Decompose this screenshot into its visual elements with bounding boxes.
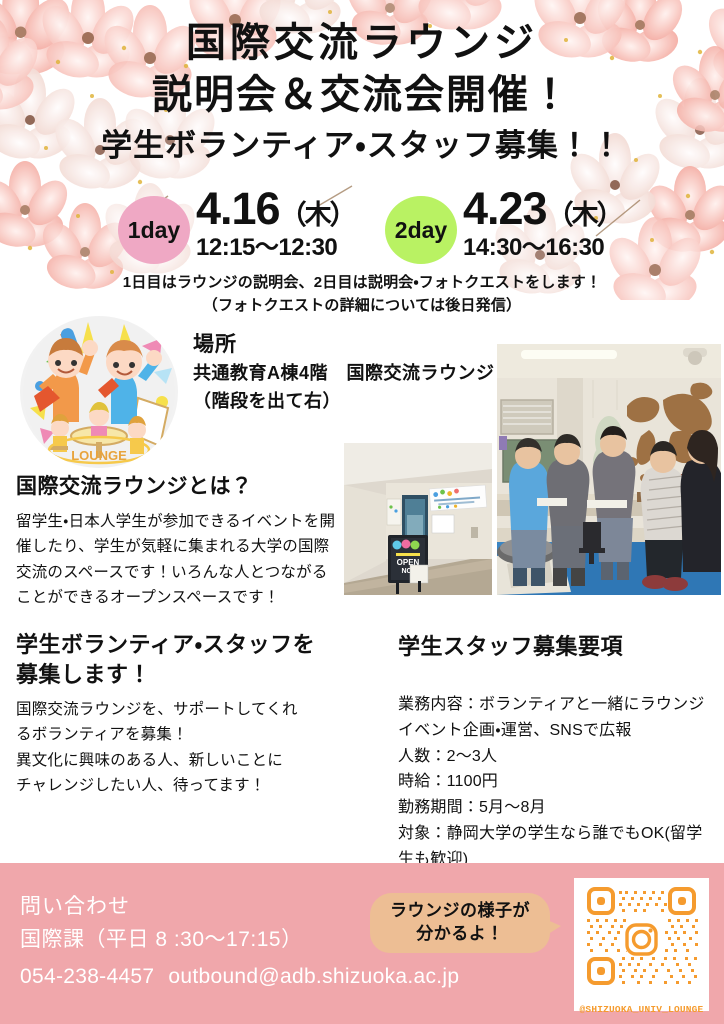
contact-phone-email: 054-238-4457outbound@adb.shizuoka.ac.jp: [20, 965, 459, 989]
place-block: 場所 共通教育A棟4階 国際交流ラウンジ （階段を出て右）: [193, 328, 495, 414]
day-2-date-row: 4.23（木）: [463, 188, 622, 231]
recruit-body-line-3: 異文化に興味のある人、新しいことに: [16, 748, 381, 773]
place-line-1: 共通教育A棟4階 国際交流ラウンジ: [193, 360, 495, 386]
poster-header: 国際交流ラウンジ 説明会＆交流会開催！ 学生ボランティア・スタッフ募集！！: [0, 18, 724, 166]
note-line-2: （フォトクエストの詳細については後日発信）: [0, 295, 724, 318]
event-day-1: 1day 4.16（木） 12:15〜12:30: [118, 188, 355, 264]
day-2-time: 14:30〜16:30: [463, 234, 622, 262]
contact-email[interactable]: outbound@adb.shizuoka.ac.jp: [168, 965, 459, 988]
title-line-1: 国際交流ラウンジ: [0, 18, 724, 68]
title-line-2: 説明会＆交流会開催！: [0, 70, 724, 120]
day-badge-2: 2day: [385, 196, 457, 264]
terms-line-2: イベント企画・運営、SNSで広報: [398, 718, 718, 744]
place-line-2: （階段を出て右）: [193, 388, 495, 414]
event-day-2: 2day 4.23（木） 14:30〜16:30: [385, 188, 622, 264]
instagram-qr-code-icon[interactable]: [579, 883, 704, 998]
day-1-details: 4.16（木） 12:15〜12:30: [196, 188, 355, 261]
photo-lounge-entrance-svg: OPEN NOW: [344, 443, 492, 595]
recruit-body-line-2: るボランティアを募集！: [16, 722, 381, 747]
place-label: 場所: [193, 328, 495, 358]
terms-section: 学生スタッフ募集要項 業務内容：ボランティアと一緒にラウンジ イベント企画・運営…: [398, 632, 718, 873]
instagram-qr-card[interactable]: @SHIZUOKA_UNIV_LOUNGE: [574, 878, 709, 1011]
about-body: 留学生・日本人学生が参加できるイベントを開催したり、学生が気軽に集まれる大学の国…: [16, 509, 336, 609]
day-2-date: 4.23: [463, 183, 547, 234]
terms-line-1: 業務内容：ボランティアと一緒にラウンジ: [398, 692, 718, 718]
terms-line-6: 対象：静岡大学の学生なら誰でもOK(留学: [398, 821, 718, 847]
event-dates: 1day 4.16（木） 12:15〜12:30 2day 4.23（木） 14…: [0, 188, 724, 263]
bubble-tail-icon: [545, 919, 561, 936]
recruit-body-line-4: チャレンジしたい人、待ってます！: [16, 773, 381, 798]
day-badge-1: 1day: [118, 196, 190, 264]
recruit-body: 国際交流ラウンジを、サポートしてくれ るボランティアを募集！ 異文化に興味のある…: [16, 697, 381, 797]
day-1-date: 4.16: [196, 183, 280, 234]
terms-line-5: 勤務期間：5月〜8月: [398, 795, 718, 821]
photo-lounge-activity-svg: [497, 344, 721, 595]
terms-heading: 学生スタッフ募集要項: [398, 632, 718, 662]
bubble-line-2: 分かるよ！: [416, 923, 504, 946]
day-2-weekday: （木）: [547, 200, 622, 230]
terms-line-4: 時給：1100円: [398, 769, 718, 795]
lounge-illustration: LOUNGE: [20, 316, 178, 468]
day-1-time: 12:15〜12:30: [196, 234, 355, 262]
bubble-line-1: ラウンジの様子が: [390, 900, 530, 923]
about-heading: 国際交流ラウンジとは？: [16, 473, 336, 501]
recruit-body-line-1: 国際交流ラウンジを、サポートしてくれ: [16, 697, 381, 722]
note-line-1: 1日目はラウンジの説明会、2日目は説明会・フォトクエストをします！: [0, 272, 724, 295]
title-line-3: 学生ボランティア・スタッフ募集！！: [0, 126, 724, 166]
instagram-callout-bubble: ラウンジの様子が 分かるよ！: [370, 893, 550, 953]
recruit-section: 学生ボランティア・スタッフを 募集します！ 国際交流ラウンジを、サポートしてくれ…: [16, 630, 381, 798]
poster-root: 国際交流ラウンジ 説明会＆交流会開催！ 学生ボランティア・スタッフ募集！！ 1d…: [0, 0, 724, 1024]
instagram-handle: @SHIZUOKA_UNIV_LOUNGE: [579, 1004, 704, 1015]
lounge-illustration-svg: LOUNGE: [20, 316, 178, 468]
day-1-weekday: （木）: [280, 200, 355, 230]
contact-phone[interactable]: 054-238-4457: [20, 965, 154, 988]
terms-body: 業務内容：ボランティアと一緒にラウンジ イベント企画・運営、SNSで広報 人数：…: [398, 692, 718, 873]
recruit-heading-line-2: 募集します！: [16, 660, 381, 690]
photo-lounge-entrance: OPEN NOW: [344, 443, 492, 595]
photo-lounge-activity: [497, 344, 721, 595]
day-2-details: 4.23（木） 14:30〜16:30: [463, 188, 622, 261]
day-1-date-row: 4.16（木）: [196, 188, 355, 231]
about-section: 国際交流ラウンジとは？ 留学生・日本人学生が参加できるイベントを開催したり、学生…: [16, 473, 336, 610]
event-notes: 1日目はラウンジの説明会、2日目は説明会・フォトクエストをします！ （フォトクエ…: [0, 272, 724, 317]
terms-line-3: 人数：2〜3人: [398, 744, 718, 770]
recruit-heading-line-1: 学生ボランティア・スタッフを: [16, 630, 381, 660]
